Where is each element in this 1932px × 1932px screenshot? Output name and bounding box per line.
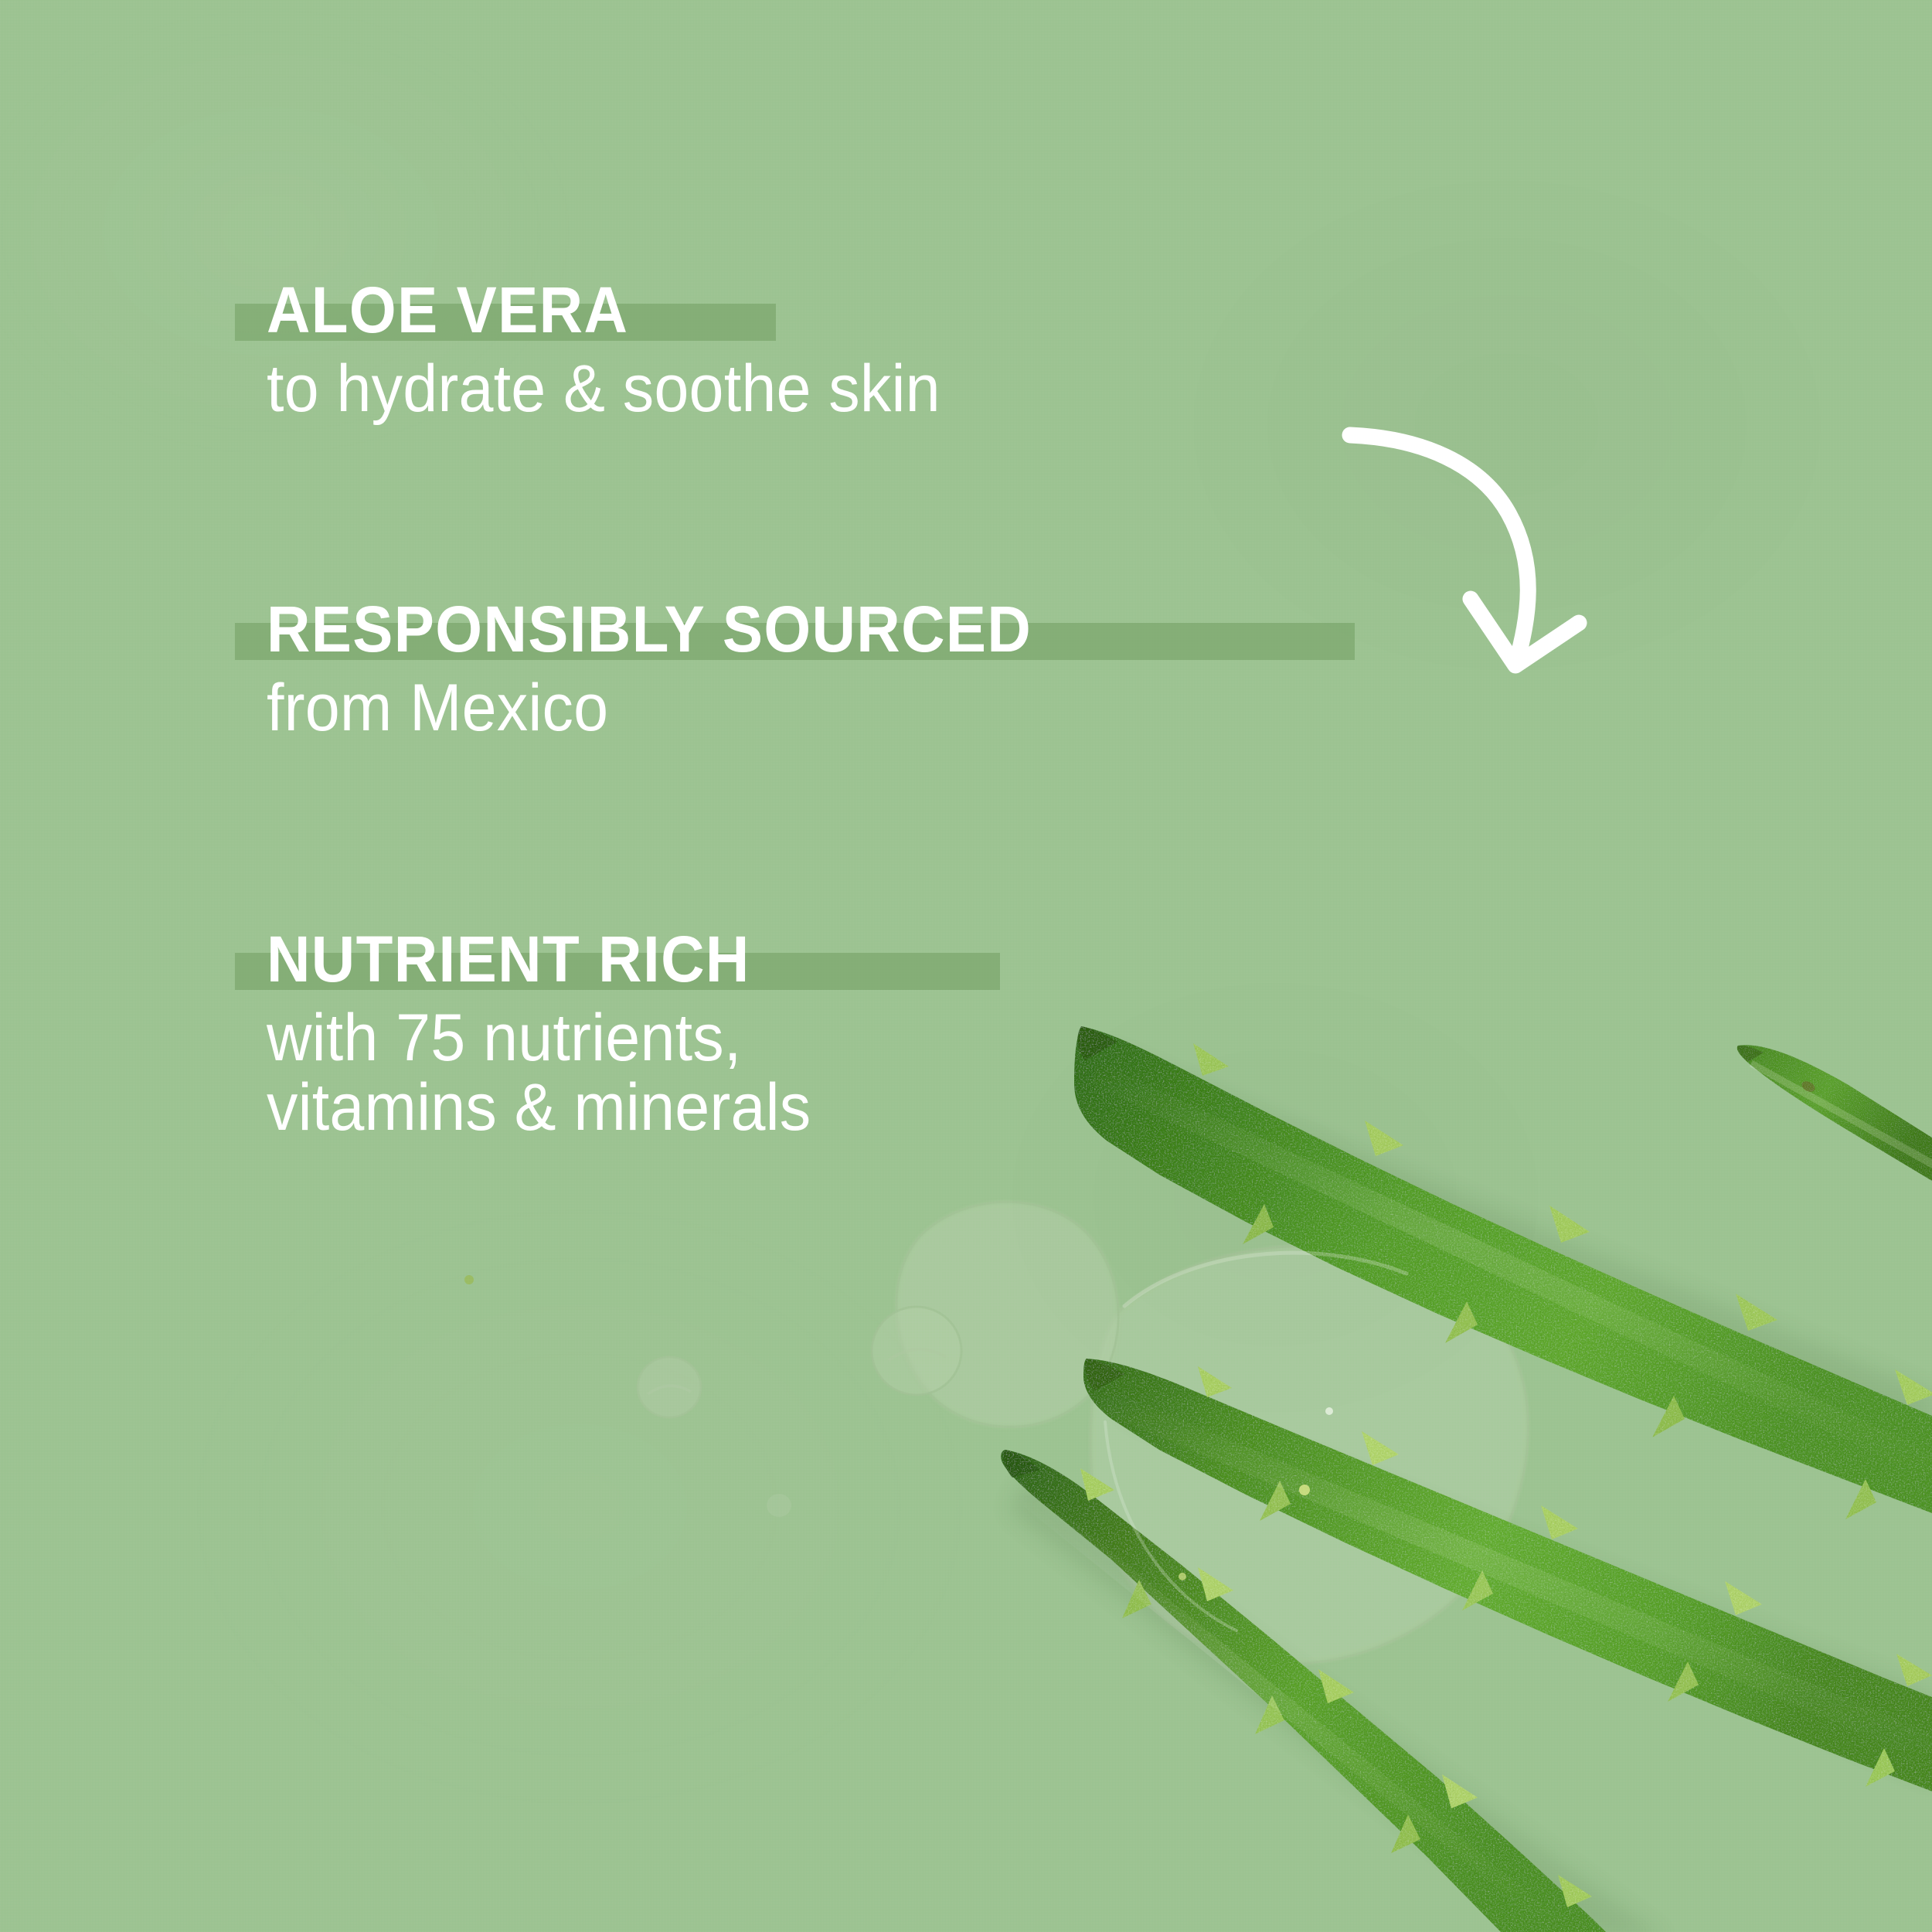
subline-aloe-vera: to hydrate & soothe skin <box>267 352 940 426</box>
benefit-block-responsibly-sourced: RESPONSIBLY SOURCED from Mexico <box>267 594 1090 745</box>
headline-nutrient-rich: NUTRIENT RICH <box>267 923 750 995</box>
headline-responsibly-sourced: RESPONSIBLY SOURCED <box>267 594 1032 665</box>
subline-nutrient-rich-1: with 75 nutrients, <box>267 1001 811 1075</box>
subline-responsibly-sourced: from Mexico <box>267 671 1040 745</box>
aloe-leaf-tip-top-right <box>1737 1045 1932 1181</box>
headline-aloe-vera: ALOE VERA <box>267 274 628 345</box>
benefit-block-nutrient-rich: NUTRIENT RICH with 75 nutrients, vitamin… <box>267 923 845 1145</box>
headline-wrap-aloe-vera: ALOE VERA <box>267 274 656 345</box>
subline-nutrient-rich-2: vitamins & minerals <box>267 1070 811 1145</box>
poster-canvas: ALOE VERA to hydrate & soothe skin RESPO… <box>0 0 1932 1932</box>
benefit-block-aloe-vera: ALOE VERA to hydrate & soothe skin <box>267 274 983 426</box>
benefits-copy: ALOE VERA to hydrate & soothe skin RESPO… <box>0 0 1546 1932</box>
headline-wrap-responsibly-sourced: RESPONSIBLY SOURCED <box>267 594 1090 665</box>
headline-wrap-nutrient-rich: NUTRIENT RICH <box>267 923 787 995</box>
